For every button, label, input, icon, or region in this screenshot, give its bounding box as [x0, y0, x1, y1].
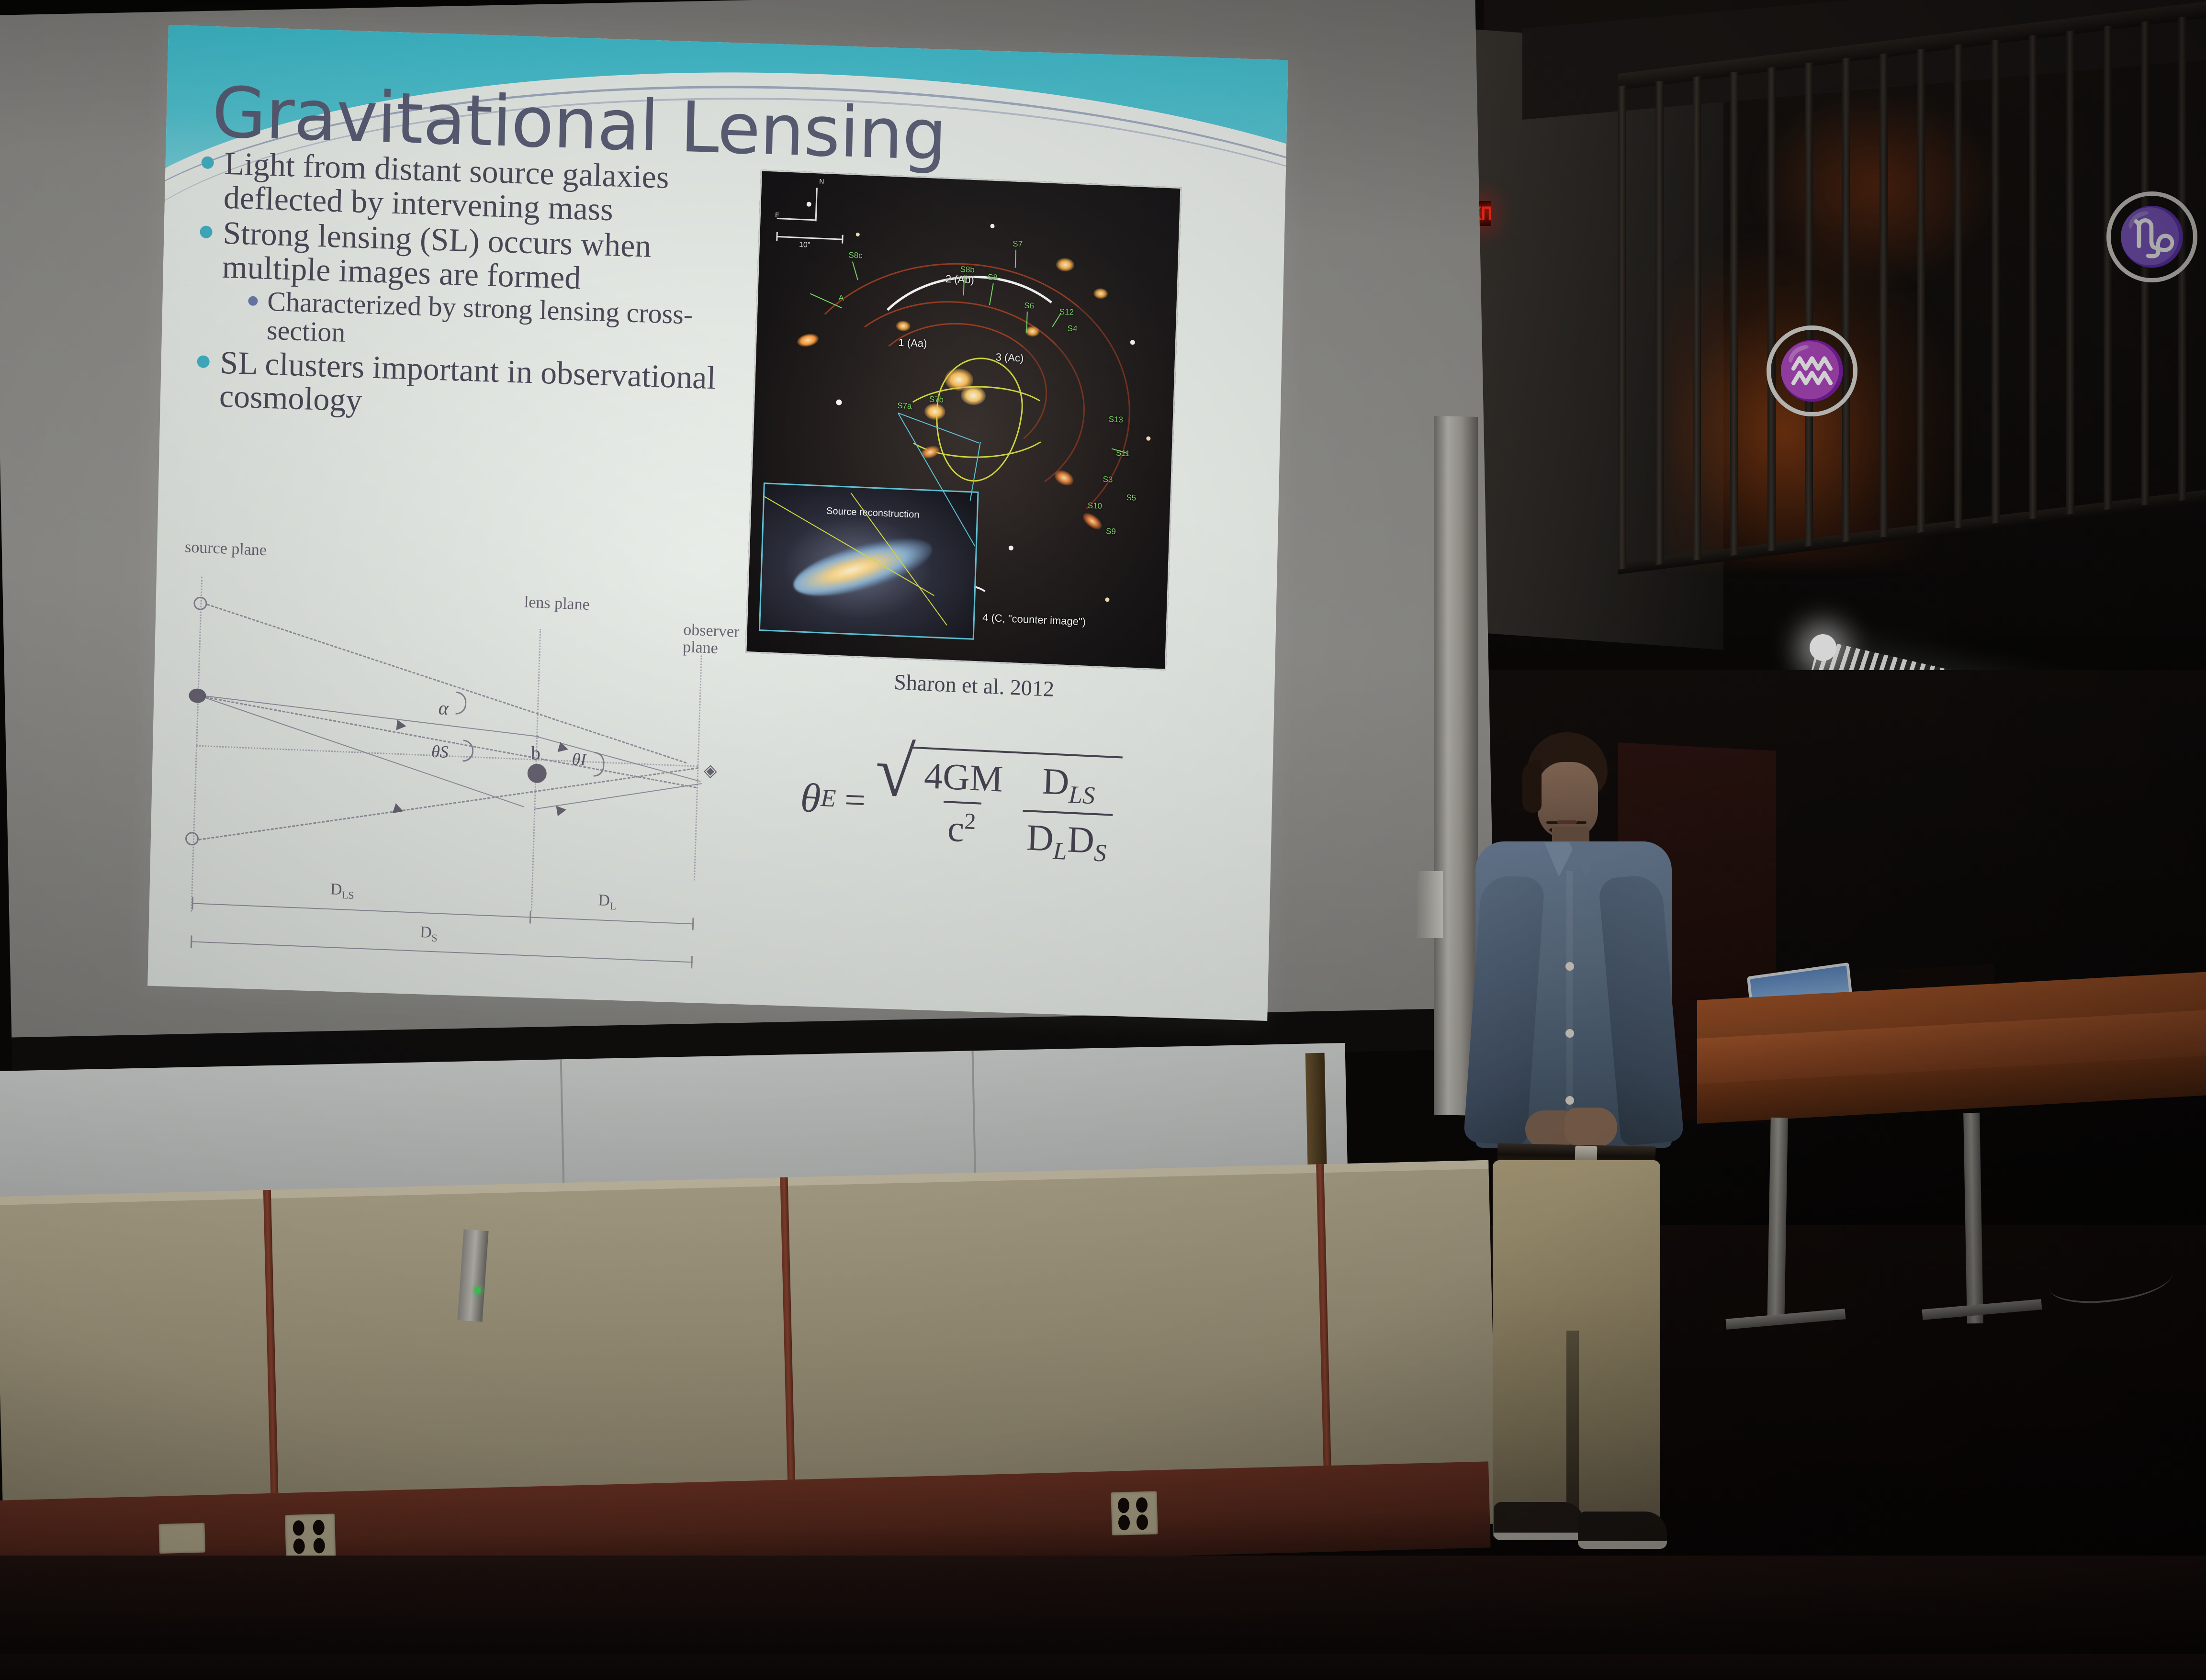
scalebar-label: 10" [799, 241, 810, 250]
dls-distance-bar [192, 903, 530, 918]
outlet-socket [1136, 1497, 1148, 1513]
railing-baluster [1954, 44, 1962, 528]
aquarius-glyph: ♒ [1777, 343, 1847, 399]
presenter-right-shoe [1578, 1512, 1667, 1547]
observer-eye-icon: ◈ [704, 760, 718, 781]
sub-bullet-dot-icon [248, 296, 258, 306]
deflected-ray-lower-in [206, 697, 524, 807]
presenter [1431, 732, 1700, 1541]
d-symbol: D [1026, 816, 1055, 859]
railing-baluster [1805, 62, 1813, 547]
mass-fraction: 4GM c2 [916, 754, 1009, 863]
dl-tick-right [692, 918, 694, 930]
theta-s-angle-bracket [462, 739, 473, 762]
outlet-socket [313, 1520, 325, 1535]
member-label-s8b: S8b [960, 265, 975, 275]
apparent-ray-lower [199, 767, 698, 840]
einstein-radius-formula: θE = √ 4GM c2 DLS DLDS [799, 741, 1123, 868]
lectern-leg [1963, 1113, 1983, 1324]
virtual-image-lower [185, 832, 199, 846]
shoe-sole [1578, 1541, 1667, 1549]
c-exponent: 2 [964, 808, 977, 834]
source-plane-label: source plane [185, 538, 267, 559]
railing-baluster [1618, 85, 1626, 570]
theta-s-angle-label: θS [431, 741, 449, 762]
scalebar-tick-left [776, 232, 778, 241]
capricorn-glyph: ♑ [2117, 209, 2187, 265]
source-reconstruction-inset: Source reconstruction [759, 482, 979, 640]
arc-label-1aa: 1 (Aa) [898, 336, 927, 350]
source-reconstruction-label: Source reconstruction [826, 506, 920, 521]
galaxy-cluster-lensing-image: N E 10" 2 (Ab) 1 (Aa) 3 (Ac) 4 (C, "coun… [745, 169, 1182, 670]
dls-label: DLS [330, 881, 354, 901]
electrical-outlet[interactable] [285, 1513, 336, 1559]
equals-sign: = [844, 778, 866, 822]
railing-baluster [1693, 76, 1701, 560]
member-label-s3: S3 [1103, 475, 1113, 485]
deflected-ray-upper-in [206, 695, 539, 737]
lectern-leg [1767, 1118, 1788, 1324]
ray-arrowhead [556, 805, 567, 817]
dl-label: DL [598, 892, 617, 911]
ds-label: DS [419, 924, 438, 943]
outlet-socket [293, 1538, 305, 1554]
presenter-right-hand [1564, 1108, 1617, 1147]
member-label-s4: S4 [1067, 324, 1077, 334]
alpha-angle-bracket [456, 692, 467, 715]
dls-tick-left [191, 897, 193, 909]
lectern [1697, 950, 2206, 1314]
d-subscript-l: L [1053, 837, 1068, 865]
source-plane-line [191, 577, 203, 912]
lens-plane-label: lens plane [524, 594, 590, 613]
member-label-s7b: S7b [929, 394, 944, 404]
theta-i-angle-bracket [594, 752, 605, 777]
railing-baluster [2104, 25, 2112, 510]
observer-plane-label: observer plane [683, 621, 740, 658]
bullet-dot-icon [201, 156, 214, 169]
virtual-image-upper [193, 596, 207, 610]
railing-baluster [2066, 30, 2074, 515]
member-label-a: A [838, 293, 844, 302]
member-label-s9: S9 [1106, 526, 1116, 537]
railing-baluster [1880, 53, 1888, 538]
theta-i-angle-label: θI [572, 749, 586, 770]
railing-baluster [1655, 80, 1664, 565]
member-label-s7: S7 [1013, 239, 1023, 249]
member-label-s6: S6 [1024, 301, 1034, 311]
railing-baluster [1730, 71, 1738, 556]
compass-e-label: E [775, 211, 780, 219]
member-label-s8c: S8c [848, 250, 863, 260]
d-subscript-ls: LS [1068, 781, 1095, 810]
bullet-dot-icon [200, 226, 213, 239]
lecture-hall-room: ♒ ♑ EXIT Gravitational Lensing Light fro… [0, 0, 2206, 1654]
electrical-outlet[interactable] [1111, 1491, 1158, 1535]
fraction-denominator: DLDS [1021, 809, 1113, 867]
dl-distance-bar [530, 917, 693, 924]
apparent-ray-upper [207, 604, 687, 763]
railing-baluster [1992, 39, 2000, 524]
shirt-button [1565, 962, 1574, 971]
member-label-s10: S10 [1087, 501, 1102, 511]
reconstructed-source-galaxy [788, 527, 938, 607]
d-symbol: D [1041, 760, 1070, 803]
theta-symbol: θ [799, 773, 822, 822]
shirt-button [1565, 1029, 1574, 1038]
railing-baluster [1842, 57, 1850, 542]
fraction-denominator: c2 [942, 801, 981, 851]
floor [0, 1556, 2206, 1680]
bullet-dot-icon [197, 355, 210, 368]
outlet-socket [1137, 1514, 1148, 1530]
outlet-socket [1118, 1498, 1130, 1513]
d-symbol-2: D [1067, 818, 1095, 861]
radicand: 4GM c2 DLS DLDS [909, 747, 1123, 868]
shoe-sole [1494, 1533, 1585, 1540]
source-object [189, 688, 206, 703]
lensing-geometry-diagram: source plane lens plane observer plane [151, 527, 733, 981]
presentation-slide: Gravitational Lensing Light from distant… [147, 25, 1288, 1021]
theta-subscript-e: E [820, 784, 836, 813]
image-credit: Sharon et al. 2012 [893, 669, 1054, 702]
aquarius-zodiac-icon: ♒ [1767, 325, 1857, 416]
ceiling-light-hotspot [1810, 634, 1836, 661]
fraction-numerator: 4GM [919, 754, 1009, 804]
lens-mass [527, 763, 547, 784]
outlet-socket [313, 1538, 325, 1554]
ray-arrowhead [558, 742, 570, 755]
impact-parameter-label: b [530, 741, 540, 764]
member-label-s5: S5 [1126, 493, 1136, 503]
ds-distance-bar [191, 941, 693, 963]
railing-baluster [2029, 35, 2037, 519]
wall-outlet-plate[interactable] [158, 1523, 205, 1554]
ds-tick-right [691, 956, 693, 968]
member-label-s12: S12 [1059, 307, 1074, 317]
railing-baluster [1767, 67, 1776, 551]
ray-arrowhead [393, 803, 405, 816]
presenter-mouth [1557, 820, 1577, 824]
fraction-numerator: DLS [1036, 759, 1101, 813]
shirt-button [1565, 1096, 1574, 1105]
d-subscript-s: S [1093, 839, 1107, 867]
member-label-s7a: S7a [897, 401, 912, 411]
arc-label-3ac: 3 (Ac) [995, 351, 1024, 364]
scalebar-tick-right [842, 235, 844, 244]
bullet-text: SL clusters important in observational c… [219, 345, 762, 430]
outlet-socket [1118, 1515, 1130, 1531]
ray-arrowhead [396, 720, 407, 731]
ds-tick-left [191, 935, 192, 948]
square-root-group: √ 4GM c2 DLS DLDS [872, 745, 1123, 868]
alpha-angle-label: α [438, 696, 449, 719]
capricorn-zodiac-icon: ♑ [2106, 191, 2197, 282]
balcony-railing [1618, 13, 2206, 570]
arc-label-2ab: 2 (Ab) [945, 273, 974, 286]
presenter-left-shoe [1494, 1502, 1585, 1538]
slide-bullet-list: Light from distant source galaxies defle… [196, 146, 766, 432]
distance-fraction: DLS DLDS [1021, 759, 1114, 868]
outlet-socket [293, 1520, 304, 1536]
equipment-status-led [475, 1288, 481, 1293]
lectern-power-cable [2048, 1254, 2175, 1306]
compass-n-label: N [819, 178, 824, 185]
railing-baluster [1917, 48, 1925, 533]
c-symbol: c [947, 807, 965, 850]
member-label-s13: S13 [1108, 414, 1123, 425]
member-label-s8: S8 [988, 272, 998, 282]
presenter-hair-side [1522, 760, 1542, 813]
